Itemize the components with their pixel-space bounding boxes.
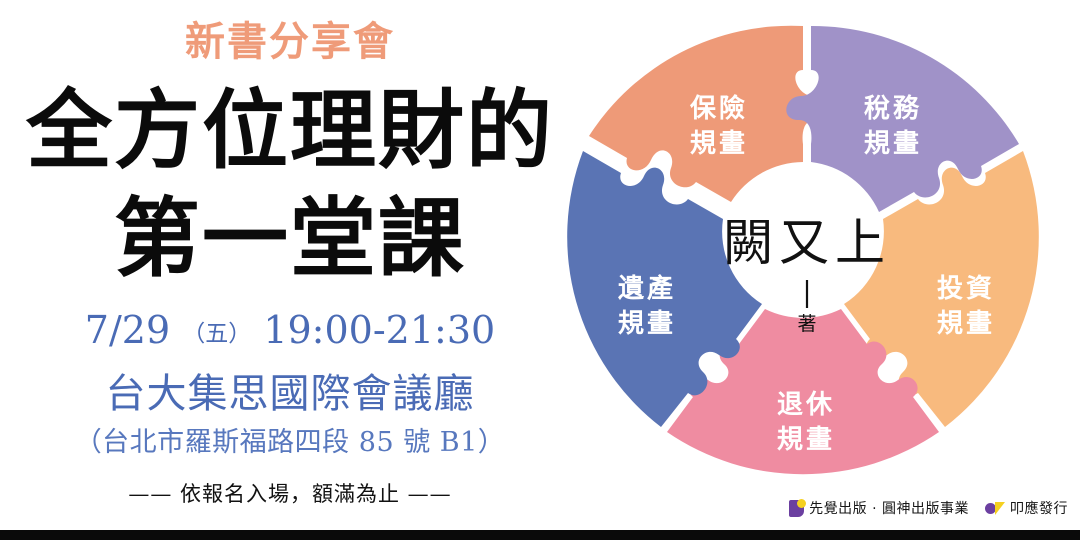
piece-label-tax-2: 規畫 [864,129,922,159]
event-date: 7/29 [85,308,170,352]
piece-label-estate-2: 規畫 [618,309,676,339]
event-kicker: 新書分享會 [0,20,580,64]
page-title-line-1: 全方位理財的 [0,88,580,174]
puzzle-ring-diagram: 保險 規畫 稅務 規畫 投資 規畫 退休 規畫 遺產 規畫 闕又上 著 [563,8,1043,488]
event-day-of-week: （五） [182,321,251,347]
piece-label-investment-2: 規畫 [937,309,995,339]
piece-label-retirement-2: 規畫 [777,425,835,455]
piece-label-investment-1: 投資 [937,274,995,304]
publisher-credit-1: 先覺出版 · 圓神出版事業 [789,498,969,518]
publisher-credit-2-label: 叩應發行 [1010,498,1068,518]
publisher-credits: 先覺出版 · 圓神出版事業 叩應發行 [789,498,1068,518]
piece-label-insurance-2: 規畫 [690,129,748,159]
event-time: 19:00-21:30 [263,308,495,352]
bottom-accent-bar [0,530,1080,540]
booklife-distributor-logo-icon [985,501,1005,516]
piece-label-insurance-1: 保險 [689,93,748,124]
registration-note: —— 依報名入場，額滿為止 —— [0,483,580,506]
text-column: 新書分享會 全方位理財的 第一堂課 7/29 （五） 19:00-21:30 台… [0,0,580,540]
author-name: 闕又上 [723,214,891,272]
piece-label-estate-1: 遺產 [618,273,676,304]
poster-canvas: 新書分享會 全方位理財的 第一堂課 7/29 （五） 19:00-21:30 台… [0,0,1080,540]
piece-label-retirement-1: 退休 [777,390,835,420]
publisher-credit-2: 叩應發行 [985,498,1068,518]
author-role: 著 [797,313,816,335]
event-venue: 台大集思國際會議廳 [0,372,580,416]
eurasian-publisher-logo-icon [789,500,804,517]
publisher-credit-1-label: 先覺出版 · 圓神出版事業 [809,498,969,518]
page-title-line-2: 第一堂課 [0,196,580,282]
piece-label-tax-1: 稅務 [864,94,922,124]
event-address: （台北市羅斯福路四段 85 號 B1） [0,428,580,458]
event-datetime: 7/29 （五） 19:00-21:30 [0,310,580,352]
